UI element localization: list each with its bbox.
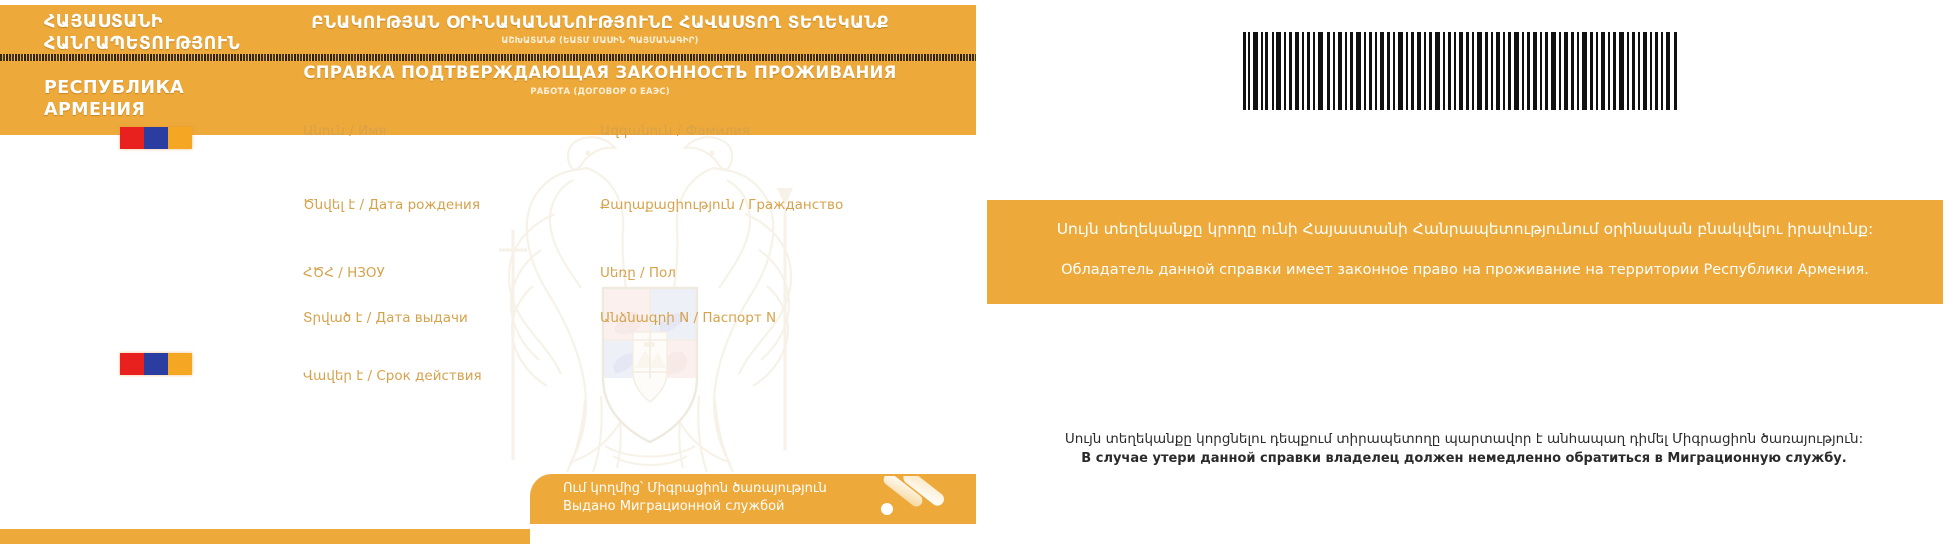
loss-warning-ru: В случае утери данной справки владелец д… [976,449,1952,468]
document-title-hy: ԲՆԱԿՈՒԹՅԱՆ ՕՐԻՆԱԿԱՆԱՆՈՒԹՅՈՒՆԸ ՀԱՎԱՍՏՈՂ Տ… [260,13,940,33]
field-label-social-id: ՀԾՀ / НЗОУ [303,265,385,281]
document-subtitle-ru: РАБОТА (ДОГОВОР О ЕАЭС) [260,87,940,97]
field-label-citizenship: Քաղաքացիություն / Гражданство [600,197,843,213]
issuer-line-hy: Ում կողմից՝ Միգրացիոն ծառայություն [563,481,827,496]
rights-notice-ru: Обладатель данной справки имеет законное… [987,262,1943,278]
microtext-divider [0,54,976,61]
loss-warning: Սույն տեղեկանքը կորցնելու դեպքում տիրապե… [976,430,1952,468]
field-label-issue-date: Տրված է / Дата выдачи [303,310,468,326]
document-title-ru: СПРАВКА ПОДТВЕРЖДАЮЩАЯ ЗАКОННОСТЬ ПРОЖИВ… [260,63,940,82]
certificate-front-card: ՀԱՅԱՍՏԱՆԻ ՀԱՆՐԱՊԵՏՈՒԹՅՈՒՆ ԲՆԱԿՈՒԹՅԱՆ ՕՐԻ… [0,0,976,544]
field-label-sex: Սեռը / Пол [600,265,676,281]
card-body: Անուն / Имя Ազգանուն / Фамилия Ծնվել է /… [0,135,976,544]
field-label-valid-until: Վավեր է / Срок действия [303,368,482,384]
field-label-last-name: Ազգանուն / Фамилия [600,123,750,139]
country-name-ru-line2: АРМЕНИЯ [44,99,184,121]
country-name-hy-line2: ՀԱՆՐԱՊԵՏՈՒԹՅՈՒՆ [44,33,240,55]
armenia-flag-icon [120,127,192,149]
issuer-line-ru: Выдано Миграционной службой [563,499,785,514]
field-label-birth-date: Ծնվել է / Дата рождения [303,197,480,213]
country-name-ru: РЕСПУБЛИКА АРМЕНИЯ [44,77,184,121]
certificate-back-panel: Սույն տեղեկանքը կրողը ունի Հայաստանի Հան… [976,0,1952,544]
rights-notice-banner: Սույն տեղեկանքը կրողը ունի Հայաստանի Հան… [987,200,1943,304]
pen-icon [870,476,960,522]
field-label-first-name: Անուն / Имя [303,123,386,139]
issuer-banner: Ում կողմից՝ Միգրացիոն ծառայություն Выдан… [530,474,976,524]
loss-warning-hy: Սույն տեղեկանքը կորցնելու դեպքում տիրապե… [976,430,1952,449]
barcode-icon [1241,32,1681,110]
country-name-ru-line1: РЕСПУБЛИКА [44,77,184,99]
armenia-flag-icon-bottom [120,353,192,375]
country-name-hy: ՀԱՅԱՍՏԱՆԻ ՀԱՆՐԱՊԵՏՈՒԹՅՈՒՆ [44,11,240,55]
residence-permit-certificate: ՀԱՅԱՍՏԱՆԻ ՀԱՆՐԱՊԵՏՈՒԹՅՈՒՆ ԲՆԱԿՈՒԹՅԱՆ ՕՐԻ… [0,0,1952,544]
rights-notice-hy: Սույն տեղեկանքը կրողը ունի Հայաստանի Հան… [987,220,1943,238]
card-bottom-bar [0,529,530,544]
document-subtitle-hy: ԱՇԽԱՏԱՆՔ (ԵԱՏՄ ՄԱՍԻՆ ՊԱՅՄԱՆԱԳԻՐ) [260,36,940,46]
field-label-passport-no: Անձնագրի N / Паспорт N [600,310,776,326]
country-name-hy-line1: ՀԱՅԱՍՏԱՆԻ [44,11,240,33]
